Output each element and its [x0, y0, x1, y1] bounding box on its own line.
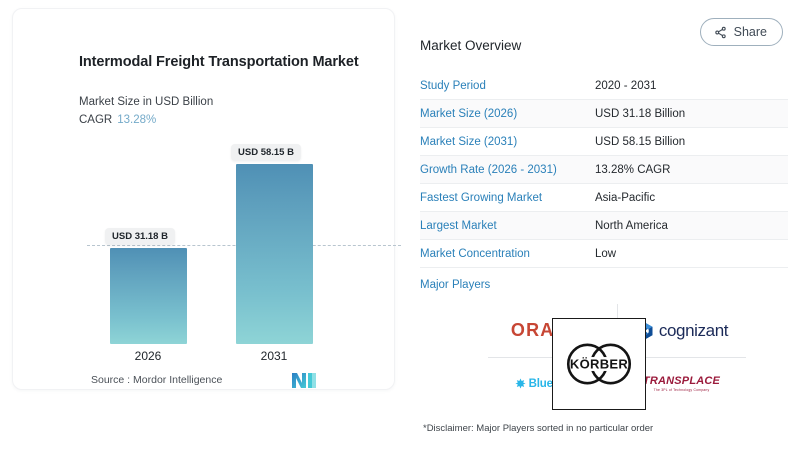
disclaimer-text: *Disclaimer: Major Players sorted in no …	[423, 423, 653, 434]
row-key: Fastest Growing Market	[420, 192, 595, 204]
mordor-intelligence-logo	[291, 371, 317, 389]
table-row: Growth Rate (2026 - 2031) 13.28% CAGR	[420, 156, 788, 184]
row-key: Market Size (2026)	[420, 108, 595, 120]
major-players-row: Major Players	[420, 270, 788, 300]
row-key: Study Period	[420, 80, 595, 92]
row-value: USD 58.15 Billion	[595, 136, 685, 148]
source-text: Source : Mordor Intelligence	[91, 374, 222, 386]
bar-label-2026: USD 31.18 B	[105, 228, 175, 245]
cognizant-wordmark: cognizant	[659, 321, 728, 341]
major-players-logo-grid: ORACLE cognizant	[488, 304, 746, 409]
row-value: Low	[595, 248, 616, 260]
bar-chart-plot: USD 31.18 B USD 58.15 B 2026 2031	[79, 139, 389, 344]
transplace-wordmark: TRANSPLACE	[643, 375, 720, 387]
cagr-value: 13.28%	[117, 114, 156, 126]
row-key: Largest Market	[420, 220, 595, 232]
table-row: Market Concentration Low	[420, 240, 788, 268]
row-value: North America	[595, 220, 668, 232]
transplace-tagline: The 3PL of Technology Company	[643, 388, 720, 392]
bar-label-2031: USD 58.15 B	[231, 144, 301, 161]
row-value: 13.28% CAGR	[595, 164, 670, 176]
x-axis-tick-2031: 2031	[229, 349, 319, 363]
cagr-row: CAGR13.28%	[79, 114, 156, 126]
market-overview-panel: Market Overview Study Period 2020 - 2031…	[420, 38, 788, 409]
chart-subtitle: Market Size in USD Billion	[79, 96, 213, 108]
cagr-label: CAGR	[79, 114, 112, 126]
row-key: Growth Rate (2026 - 2031)	[420, 164, 595, 176]
transplace-logo: TRANSPLACE The 3PL of Technology Company	[643, 375, 720, 392]
svg-text:KÖRBER: KÖRBER	[570, 357, 629, 372]
share-button-label: Share	[734, 25, 767, 39]
share-nodes-icon	[714, 26, 727, 39]
market-overview-page: Share Intermodal Freight Transportation …	[0, 0, 800, 459]
korber-logo: KÖRBER	[558, 335, 640, 393]
table-row: Fastest Growing Market Asia-Pacific	[420, 184, 788, 212]
table-row: Market Size (2031) USD 58.15 Billion	[420, 128, 788, 156]
bar-2026[interactable]	[110, 248, 187, 344]
chart-card: Intermodal Freight Transportation Market…	[12, 8, 395, 390]
bar-2031[interactable]	[236, 164, 313, 344]
cognizant-logo: cognizant	[635, 321, 728, 341]
player-cell-korber: KÖRBER	[552, 318, 646, 410]
blueyonder-mark-icon	[515, 378, 526, 389]
row-value: Asia-Pacific	[595, 192, 655, 204]
x-axis-tick-2026: 2026	[103, 349, 193, 363]
row-value: 2020 - 2031	[595, 80, 656, 92]
major-players-label: Major Players	[420, 279, 490, 291]
table-row: Largest Market North America	[420, 212, 788, 240]
row-key: Market Size (2031)	[420, 136, 595, 148]
table-row: Market Size (2026) USD 31.18 Billion	[420, 100, 788, 128]
row-key: Market Concentration	[420, 248, 595, 260]
table-row: Study Period 2020 - 2031	[420, 72, 788, 100]
row-value: USD 31.18 Billion	[595, 108, 685, 120]
chart-title: Intermodal Freight Transportation Market	[79, 53, 379, 72]
market-overview-title: Market Overview	[420, 38, 788, 53]
